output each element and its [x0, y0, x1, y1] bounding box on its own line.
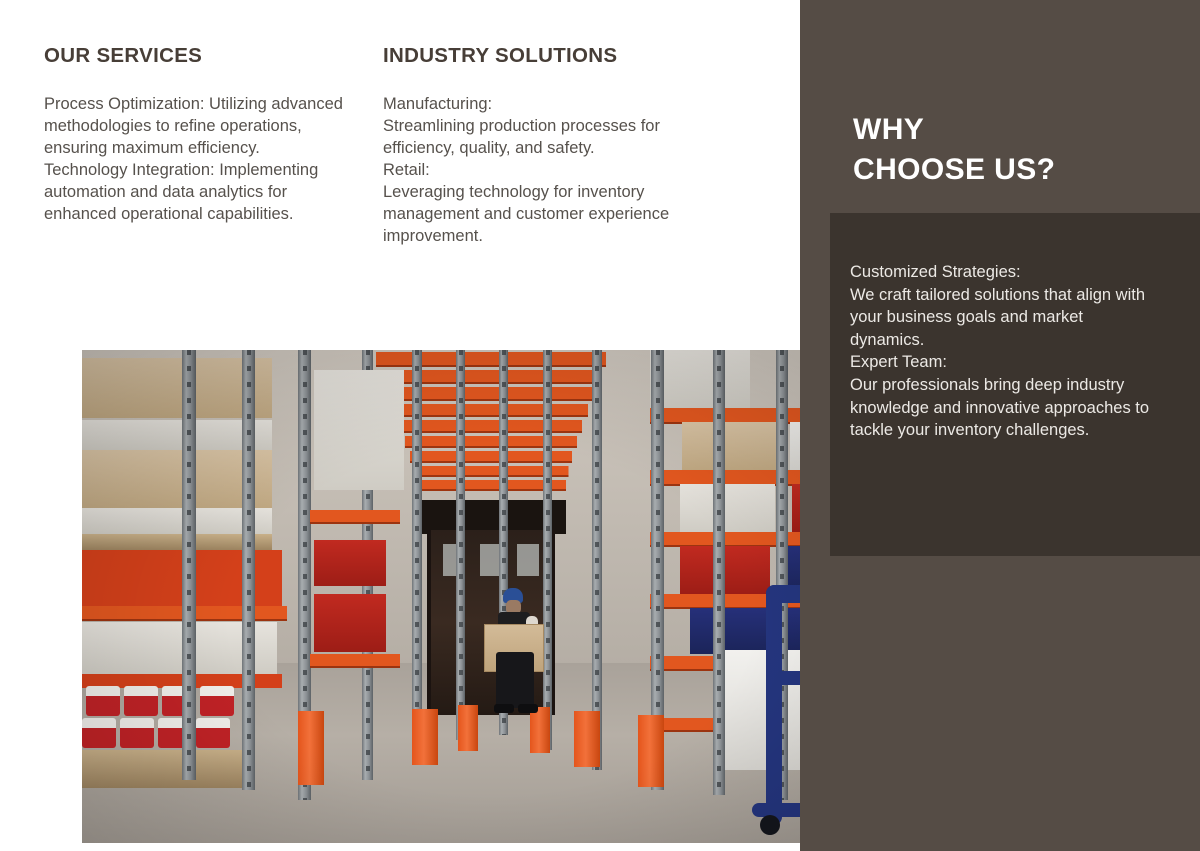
why-choose-us-paragraph: Our professionals bring deep industry kn…	[850, 374, 1160, 442]
photo-vignette	[82, 350, 900, 843]
industry-solutions-column-title: INDUSTRY SOLUTIONS	[383, 44, 703, 68]
services-paragraph: Technology Integration: Implementing aut…	[44, 160, 364, 226]
why-choose-us-paragraph: Customized Strategies:	[850, 261, 1160, 284]
why-choose-us-panel: WHY CHOOSE US? Customized Strategies: We…	[800, 0, 1200, 851]
services-column: OUR SERVICES Process Optimization: Utili…	[44, 44, 364, 226]
why-choose-us-paragraph: Expert Team:	[850, 351, 1160, 374]
industry-solutions-column: INDUSTRY SOLUTIONS Manufacturing: Stream…	[383, 44, 703, 248]
industry-paragraph: Streamlining production processes for ef…	[383, 116, 703, 160]
why-choose-us-card-body: Customized Strategies: We craft tailored…	[850, 261, 1160, 442]
services-column-body: Process Optimization: Utilizing advanced…	[44, 94, 364, 226]
services-column-title: OUR SERVICES	[44, 44, 364, 68]
brochure-page: OUR SERVICES Process Optimization: Utili…	[0, 0, 1200, 851]
why-choose-us-paragraph: We craft tailored solutions that align w…	[850, 284, 1160, 352]
industry-paragraph: Manufacturing:	[383, 94, 703, 116]
warehouse-scene	[82, 350, 900, 843]
why-choose-us-card: Customized Strategies: We craft tailored…	[830, 213, 1200, 556]
why-choose-us-heading-line2: CHOOSE US?	[853, 150, 1183, 190]
industry-paragraph: Retail:	[383, 160, 703, 182]
services-paragraph: Process Optimization: Utilizing advanced…	[44, 94, 364, 160]
why-choose-us-heading-line1: WHY	[853, 110, 1183, 150]
warehouse-photo	[82, 350, 900, 843]
industry-solutions-column-body: Manufacturing: Streamlining production p…	[383, 94, 703, 248]
why-choose-us-heading: WHY CHOOSE US?	[853, 110, 1183, 190]
industry-paragraph: Leveraging technology for inventory mana…	[383, 182, 703, 248]
